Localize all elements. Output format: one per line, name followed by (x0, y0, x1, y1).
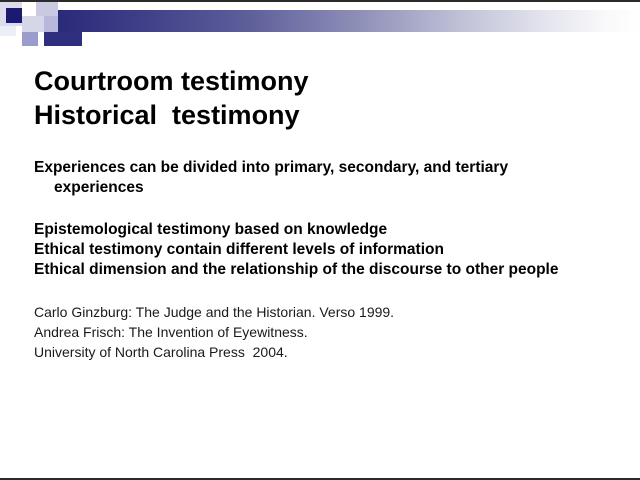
decorative-square-pale-b (22, 2, 36, 10)
citation-list: Carlo Ginzburg: The Judge and the Histor… (34, 302, 614, 362)
slide-title: Courtroom testimony Historical testimony (34, 64, 614, 132)
experiences-paragraph-line-1: Experiences can be divided into primary,… (34, 158, 614, 178)
decorative-square-mid-b (44, 16, 58, 32)
slide-canvas: Courtroom testimony Historical testimony… (0, 0, 640, 480)
citation-item: University of North Carolina Press 2004. (34, 342, 614, 362)
slide-content: Courtroom testimony Historical testimony… (34, 64, 614, 362)
decorative-bar-connector (44, 32, 82, 46)
decorative-square-pale-d (22, 16, 44, 32)
title-line-1: Courtroom testimony (34, 64, 614, 98)
experiences-paragraph: Experiences can be divided into primary,… (34, 158, 614, 198)
decorative-square-pale-e (0, 26, 16, 36)
statement-item: Ethical dimension and the relationship o… (34, 260, 614, 280)
decorative-square-navy (6, 8, 22, 23)
citation-item: Carlo Ginzburg: The Judge and the Histor… (34, 302, 614, 322)
citation-item: Andrea Frisch: The Invention of Eyewitne… (34, 322, 614, 342)
decorative-square-pale-c (36, 2, 58, 16)
statement-item: Ethical testimony contain different leve… (34, 240, 614, 260)
header-ornament (0, 2, 640, 50)
decorative-square-mid-a (22, 32, 38, 46)
statement-item: Epistemological testimony based on knowl… (34, 220, 614, 240)
header-gradient-bar (58, 10, 640, 32)
experiences-paragraph-line-2: experiences (34, 178, 614, 198)
statement-list: Epistemological testimony based on knowl… (34, 220, 614, 280)
title-line-2: Historical testimony (34, 98, 614, 132)
